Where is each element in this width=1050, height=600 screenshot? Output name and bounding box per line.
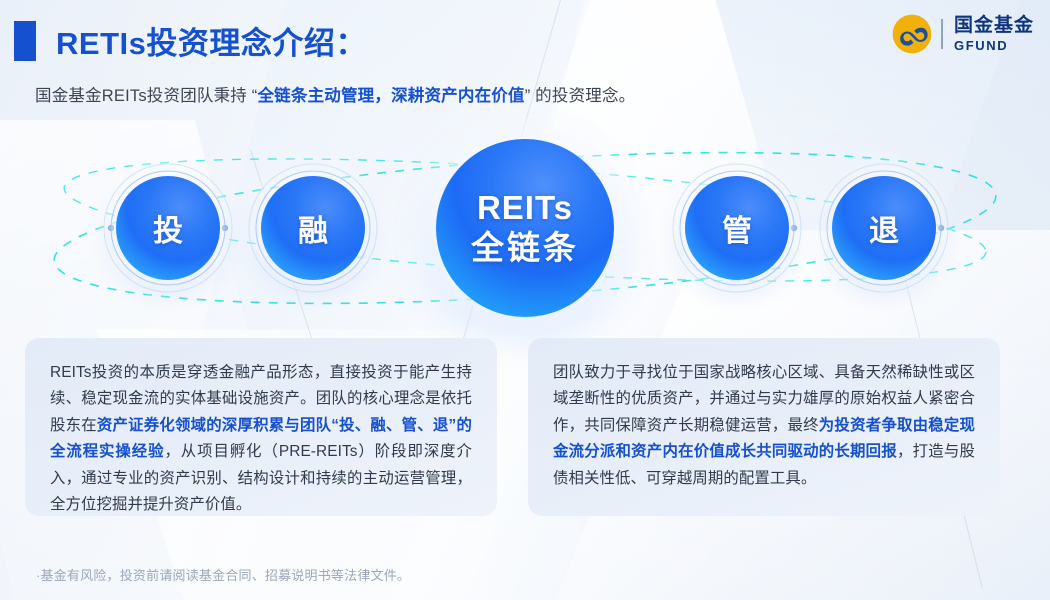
page-title-row: RETIs投资理念介绍： bbox=[14, 18, 367, 63]
center-node-line1: REITs bbox=[471, 188, 579, 228]
description-card-left: REITs投资的本质是穿透金融产品形态，直接投资于能产生持续、稳定现金流的实体基… bbox=[25, 338, 497, 516]
subtitle-highlight: 全链条主动管理，深耕资产内在价值 bbox=[257, 87, 524, 105]
orbit-dot bbox=[938, 225, 944, 231]
card-left-paragraph: REITs投资的本质是穿透金融产品形态，直接投资于能产生持续、稳定现金流的实体基… bbox=[50, 360, 472, 519]
subtitle-text-before: 国金基金REITs投资团队秉持 “ bbox=[35, 87, 257, 105]
slide-root: RETIs投资理念介绍： 国金基金REITs投资团队秉持 “全链条主动管理，深耕… bbox=[0, 0, 1050, 600]
chain-node-label: 投 bbox=[153, 206, 183, 250]
disclaimer-text: ·基金有风险，投资前请阅读基金合同、招募说明书等法律文件。 bbox=[36, 565, 410, 584]
logo-text: 国金基金 GFUND bbox=[954, 16, 1034, 52]
chain-node-label: 融 bbox=[298, 206, 328, 250]
logo-divider bbox=[941, 19, 943, 49]
chain-node-3[interactable]: 管 bbox=[685, 176, 789, 280]
chain-node-2[interactable]: 融 bbox=[261, 176, 365, 280]
orbit-dot bbox=[108, 225, 114, 231]
orbit-dot bbox=[791, 225, 797, 231]
chain-node-4[interactable]: 退 bbox=[832, 176, 936, 280]
description-card-right: 团队致力于寻找位于国家战略核心区域、具备天然稀缺性或区域垄断性的优质资产，并通过… bbox=[528, 338, 1000, 516]
chain-node-label: 退 bbox=[869, 206, 899, 250]
center-node-line2: 全链条 bbox=[471, 228, 579, 268]
card-right-paragraph: 团队致力于寻找位于国家战略核心区域、具备天然稀缺性或区域垄断性的优质资产，并通过… bbox=[553, 360, 975, 492]
logo-name-cn: 国金基金 bbox=[954, 16, 1034, 35]
chain-node-label: 管 bbox=[722, 206, 752, 250]
center-node-text: REITs 全链条 bbox=[471, 188, 579, 269]
orbit-dot bbox=[222, 225, 228, 231]
page-title: RETIs投资理念介绍： bbox=[56, 18, 367, 63]
subtitle-text-after: ” 的投资理念。 bbox=[525, 87, 636, 105]
reits-chain-diagram: 投 融 REITs 全链条 管 退 bbox=[0, 110, 1050, 330]
page-subtitle: 国金基金REITs投资团队秉持 “全链条主动管理，深耕资产内在价值” 的投资理念… bbox=[35, 82, 635, 106]
logo-name-en: GFUND bbox=[954, 39, 1034, 52]
chain-node-1[interactable]: 投 bbox=[116, 176, 220, 280]
gfund-mark-icon bbox=[892, 14, 932, 54]
chain-node-center[interactable]: REITs 全链条 bbox=[436, 139, 614, 317]
brand-logo: 国金基金 GFUND bbox=[892, 14, 1034, 54]
title-accent-bar bbox=[14, 21, 36, 61]
